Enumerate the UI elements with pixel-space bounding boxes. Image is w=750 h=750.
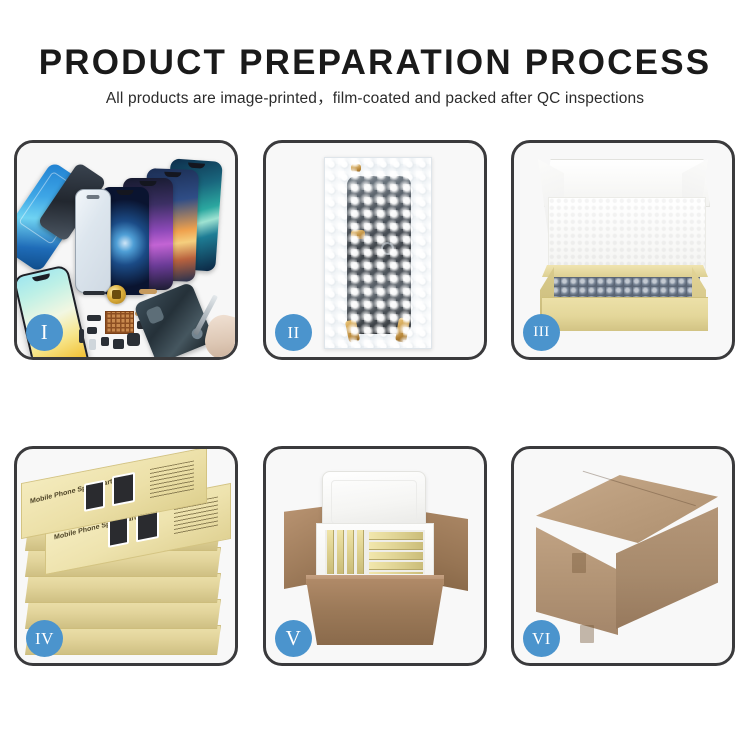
screen-glass-icon: [75, 189, 111, 293]
inner-pack-4: [357, 530, 364, 574]
step-badge-5: V: [275, 620, 312, 657]
small-part-4-icon: [89, 339, 96, 350]
small-part-2-icon: [87, 327, 97, 334]
flex-cable-1-icon: [83, 291, 105, 295]
box-window-2-back: [112, 472, 135, 506]
panel-step-4: Mobile Phone Spare Parts Mobile Phone Sp…: [14, 446, 238, 666]
box-window-1-back: [84, 480, 105, 512]
box-front-panel-icon: [542, 297, 708, 331]
box-spec-lines-back: [150, 460, 194, 499]
box-layer-3: [25, 573, 221, 603]
small-part-8-icon: [79, 329, 84, 343]
foam-sheet-icon: [548, 197, 706, 273]
inner-pack-h5: [369, 572, 423, 574]
step-badge-3: III: [523, 314, 560, 351]
bubble-texture-overlay: [325, 158, 431, 348]
panel-step-6: VI: [511, 446, 735, 666]
technician-hand-icon: [201, 312, 238, 360]
inner-pack-h4: [369, 562, 423, 570]
small-part-3-icon: [101, 337, 109, 346]
process-steps-grid: I II: [14, 140, 736, 680]
panel-step-2: II: [263, 140, 487, 360]
gold-disc-part-icon: [107, 285, 126, 304]
carton-tape-1-icon: [572, 553, 586, 573]
small-part-6-icon: [127, 333, 140, 346]
step-badge-1: I: [26, 314, 63, 351]
box-rim-icon: [542, 265, 708, 277]
bubble-wrap-bag-icon: [324, 157, 432, 349]
panel-step-1: I: [14, 140, 238, 360]
product-preparation-infographic: PRODUCT PREPARATION PROCESS All products…: [0, 0, 750, 750]
inner-pack-1: [327, 530, 334, 574]
step-badge-2: II: [275, 314, 312, 351]
panel-step-5: V: [263, 446, 487, 666]
inner-pack-h2: [369, 542, 423, 550]
header: PRODUCT PREPARATION PROCESS All products…: [0, 0, 750, 125]
page-subtitle: All products are image-printed，film-coat…: [0, 89, 750, 109]
copper-mesh-part-icon: [105, 311, 134, 334]
foam-box-interior: [325, 530, 425, 574]
carton-body-icon: [306, 579, 444, 645]
small-part-5-icon: [113, 339, 124, 349]
step-badge-6: VI: [523, 620, 560, 657]
carton-left-face-icon: [536, 519, 618, 635]
inner-pack-h1: [369, 532, 423, 540]
small-part-1-icon: [87, 315, 101, 321]
flex-cable-2-icon: [139, 289, 157, 294]
step-badge-4: IV: [26, 620, 63, 657]
page-title: PRODUCT PREPARATION PROCESS: [0, 43, 750, 83]
inner-pack-3: [347, 530, 354, 574]
inner-pack-2: [337, 530, 344, 574]
inner-pack-h3: [369, 552, 423, 560]
panel-step-3: III: [511, 140, 735, 360]
carton-tape-2-icon: [580, 625, 594, 643]
